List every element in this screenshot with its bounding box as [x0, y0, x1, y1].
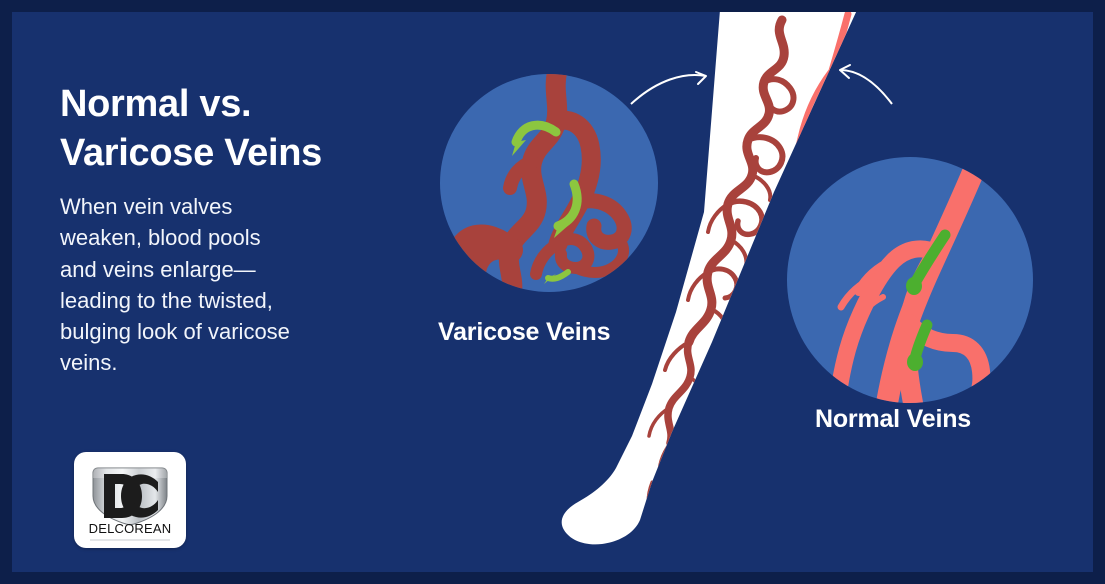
brand-logo-card[interactable]: DELCOREAN — [74, 452, 186, 548]
arrow-to-varicose-circle — [631, 72, 706, 104]
varicose-veins-callout-circle — [440, 74, 658, 292]
brand-wordmark: DELCOREAN — [74, 521, 186, 536]
text-column: Normal vs. Varicose Veins When vein valv… — [60, 80, 400, 379]
body-copy: When vein valves weaken, blood pools and… — [60, 191, 400, 378]
page-title: Normal vs. Varicose Veins — [60, 80, 400, 177]
varicose-veins-diagram — [440, 74, 658, 292]
normal-veins-label: Normal Veins — [815, 405, 971, 434]
varicose-veins-overlay — [648, 20, 793, 512]
arrow-to-normal-circle — [840, 65, 892, 104]
infographic-canvas: Varicose Veins Normal Veins Normal vs. V… — [0, 0, 1105, 584]
infographic-panel: Varicose Veins Normal Veins Normal vs. V… — [12, 12, 1093, 572]
normal-veins-diagram — [787, 157, 1033, 403]
varicose-veins-label: Varicose Veins — [438, 318, 610, 347]
normal-veins-callout-circle — [787, 157, 1033, 403]
